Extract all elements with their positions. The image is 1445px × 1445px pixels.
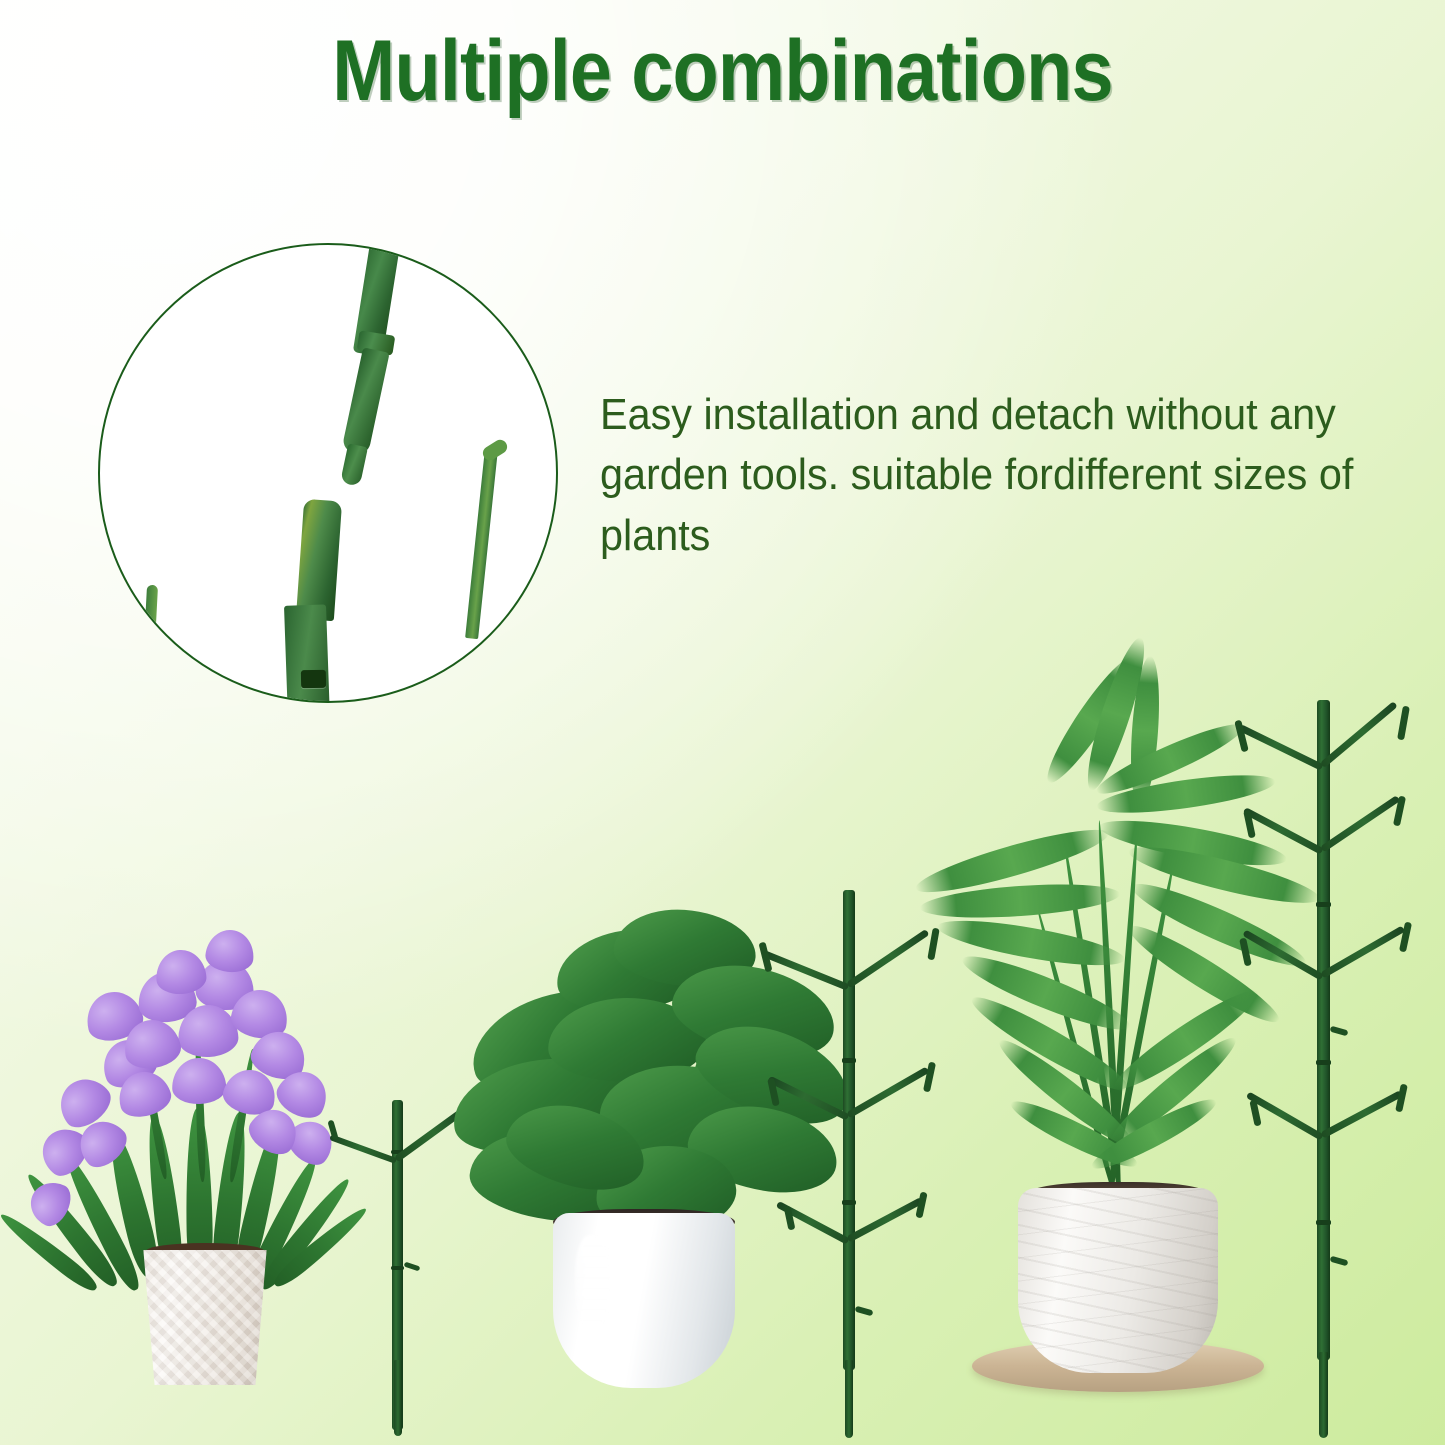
stake-socket-mouth (296, 499, 342, 621)
plants-showcase (0, 660, 1445, 1445)
page-title: Multiple combinations (87, 22, 1359, 121)
flower-pot-texture (135, 1250, 275, 1385)
stake-arm (1320, 925, 1405, 978)
stake-arm-tip (1397, 706, 1410, 741)
product-feature-image: Multiple combinations Easy installation … (0, 0, 1445, 1445)
stake-arm-tip (1330, 1026, 1349, 1037)
stake-ground-tip (394, 1360, 402, 1436)
closeup-content (100, 245, 556, 701)
loose-branch-right (465, 449, 498, 639)
stake-pole (1317, 700, 1330, 1360)
stake-arm (846, 1066, 929, 1118)
stake-node (842, 1200, 856, 1205)
stake-node (842, 1058, 856, 1063)
connector-closeup-circle (98, 243, 558, 703)
stake-arm (846, 1197, 923, 1243)
palm-pot (1018, 1188, 1218, 1373)
stake-arm (1320, 701, 1398, 768)
stake-arm-tip (1330, 1256, 1349, 1267)
stake-male-tip (340, 443, 368, 486)
stake-node (1316, 1220, 1331, 1225)
stake-arm-tip (915, 1192, 927, 1219)
stake-ground-tip (1319, 1352, 1328, 1438)
stake-arm-tip (855, 1306, 874, 1317)
stake-node (1316, 902, 1331, 907)
stake-arm-tip (404, 1262, 421, 1272)
stake-node (1316, 1060, 1331, 1065)
monstera-pot-highlight (575, 1235, 611, 1330)
loose-branch-left (145, 585, 158, 626)
stake-arm (846, 929, 930, 988)
stake-arm-tip (923, 1062, 936, 1093)
stake-arm (1320, 795, 1400, 852)
flower-blossom (171, 1057, 227, 1105)
stake-arm (1320, 1090, 1403, 1138)
stake-arm-tip (1395, 1084, 1408, 1113)
palm-pot-texture (1018, 1188, 1218, 1373)
stake-arm (1238, 724, 1324, 771)
stake-arm (329, 1134, 397, 1164)
stake-arm-tip (927, 928, 939, 961)
stake-ground-tip (845, 1360, 853, 1438)
stake-male-taper (341, 347, 389, 455)
stake-node (391, 1266, 404, 1270)
feature-description: Easy installation and detach without any… (600, 385, 1371, 566)
stake-pole (843, 890, 855, 1370)
flower-pot (135, 1250, 275, 1385)
